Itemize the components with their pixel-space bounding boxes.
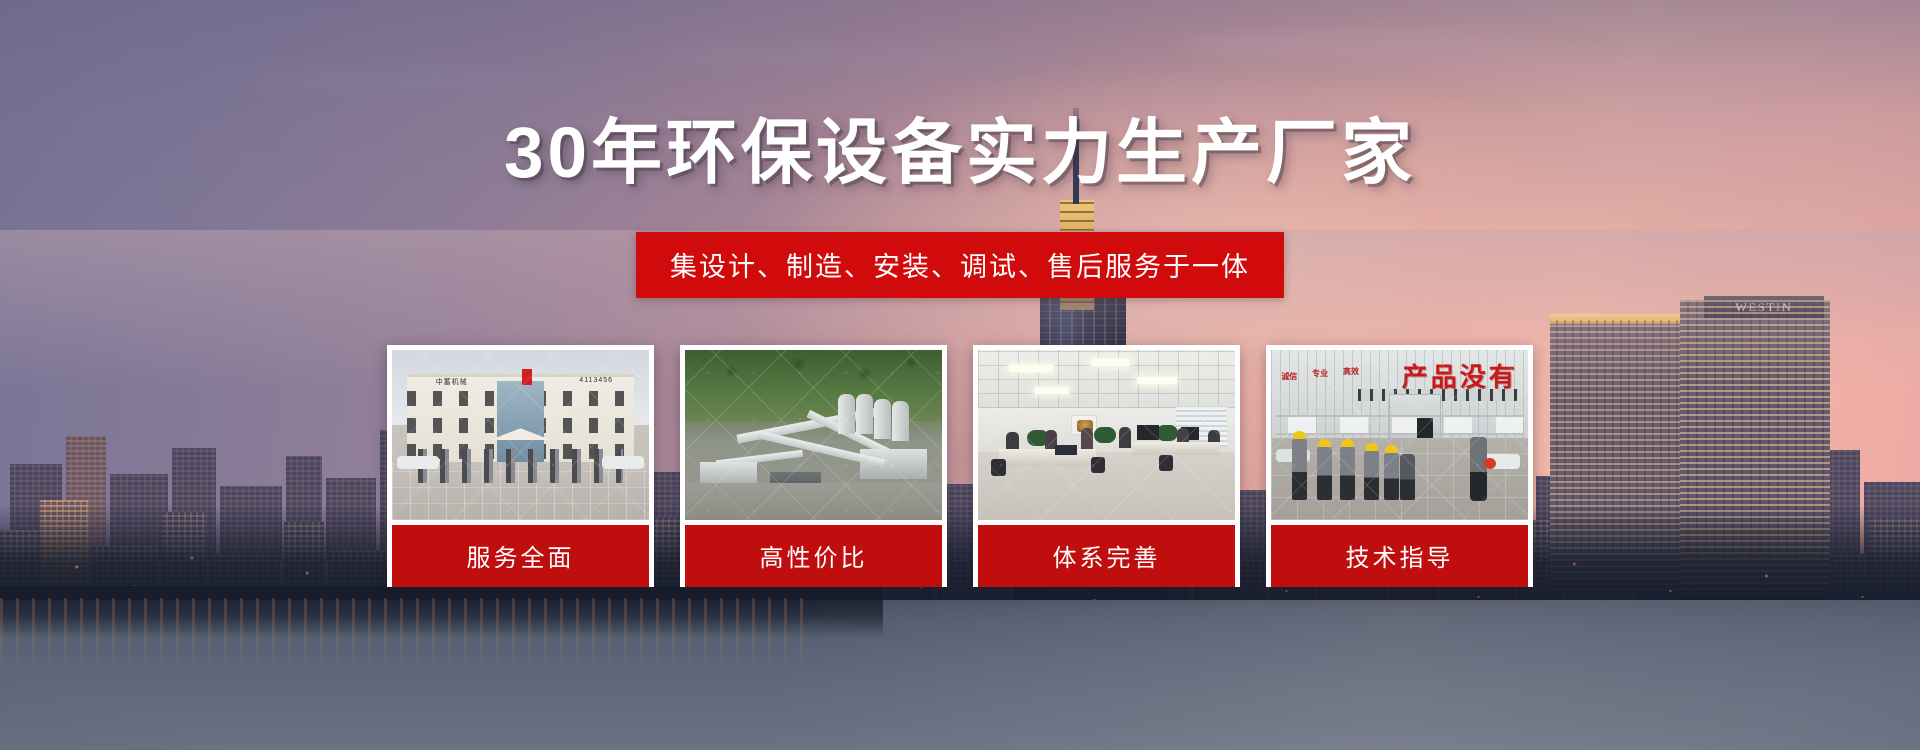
- feature-card-list: 中蓄机械 4113456 服务全面: [387, 345, 1533, 587]
- photo-company-logo-text: 中蓄机械: [436, 377, 468, 387]
- feature-card[interactable]: 产品没有 诚信 专业 高效: [1266, 345, 1533, 587]
- cloud-streak: [240, 70, 600, 90]
- aerial-factory-plant-photo: [685, 350, 942, 520]
- westin-sign: WESTIN: [1704, 296, 1824, 318]
- feature-card[interactable]: 中蓄机械 4113456 服务全面: [387, 345, 654, 587]
- subtitle-badge: 集设计、制造、安装、调试、售后服务于一体: [636, 232, 1284, 298]
- flag-icon: [522, 369, 532, 385]
- cloud-streak: [660, 46, 1080, 68]
- workshop-slogan: 专业: [1312, 369, 1328, 379]
- feature-card[interactable]: 高性价比: [680, 345, 947, 587]
- workshop-workers-training-photo: 产品没有 诚信 专业 高效: [1271, 350, 1528, 520]
- workshop-slogan: 诚信: [1281, 372, 1297, 382]
- feature-card-caption: 体系完善: [978, 525, 1235, 587]
- cloud-streak: [1420, 60, 1840, 82]
- hero-banner: WESTIN 30年环保设备实力生产厂家 集设计、制造、安装、调试、售后服务于一…: [0, 0, 1920, 750]
- feature-card-caption: 技术指导: [1271, 525, 1528, 587]
- company-office-building-photo: 中蓄机械 4113456: [392, 350, 649, 520]
- cloud-streak: [1180, 34, 1540, 60]
- workshop-slogan: 高效: [1343, 367, 1359, 377]
- photo-phone-number: 4113456: [579, 377, 613, 384]
- feature-card[interactable]: 体系完善: [973, 345, 1240, 587]
- feature-card-caption: 服务全面: [392, 525, 649, 587]
- feature-card-caption: 高性价比: [685, 525, 942, 587]
- cloud-streak: [1680, 200, 1920, 214]
- office-interior-staff-photo: [978, 350, 1235, 520]
- red-helmet-icon: [1484, 458, 1496, 469]
- cloud-streak: [1140, 96, 1400, 114]
- river-sheen: [0, 600, 1920, 750]
- page-title: 30年环保设备实力生产厂家: [0, 118, 1920, 189]
- supervisor-figure: [1470, 437, 1487, 501]
